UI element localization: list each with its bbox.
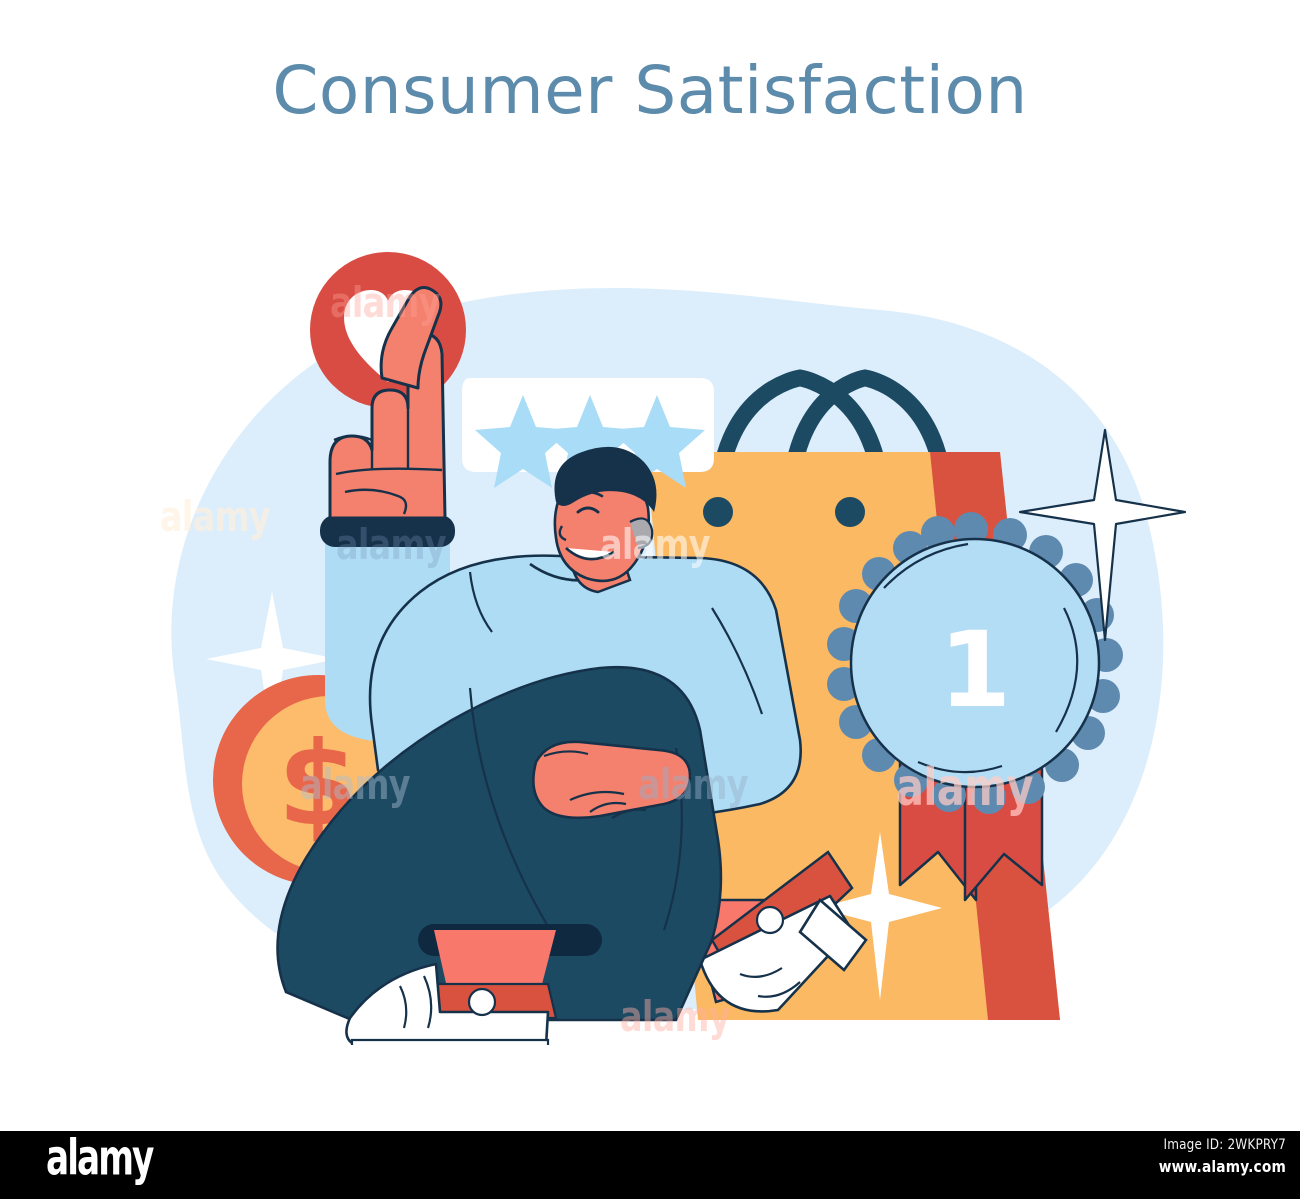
watermark-url: www.alamy.com <box>1011 1157 1286 1176</box>
page-title-container: Consumer Satisfaction <box>0 58 1300 124</box>
watermark-image-id: Image ID: 2WKPRY7 <box>1011 1137 1286 1153</box>
illustration-canvas: $ <box>0 140 1300 1060</box>
screenshot-root: Consumer Satisfaction $ <box>0 0 1300 1199</box>
alamy-logo: alamy <box>46 1133 152 1185</box>
page-title: Consumer Satisfaction <box>272 58 1027 124</box>
watermark-meta: Image ID: 2WKPRY7 www.alamy.com <box>966 1137 1286 1176</box>
award-rank-number: 1 <box>939 609 1011 731</box>
